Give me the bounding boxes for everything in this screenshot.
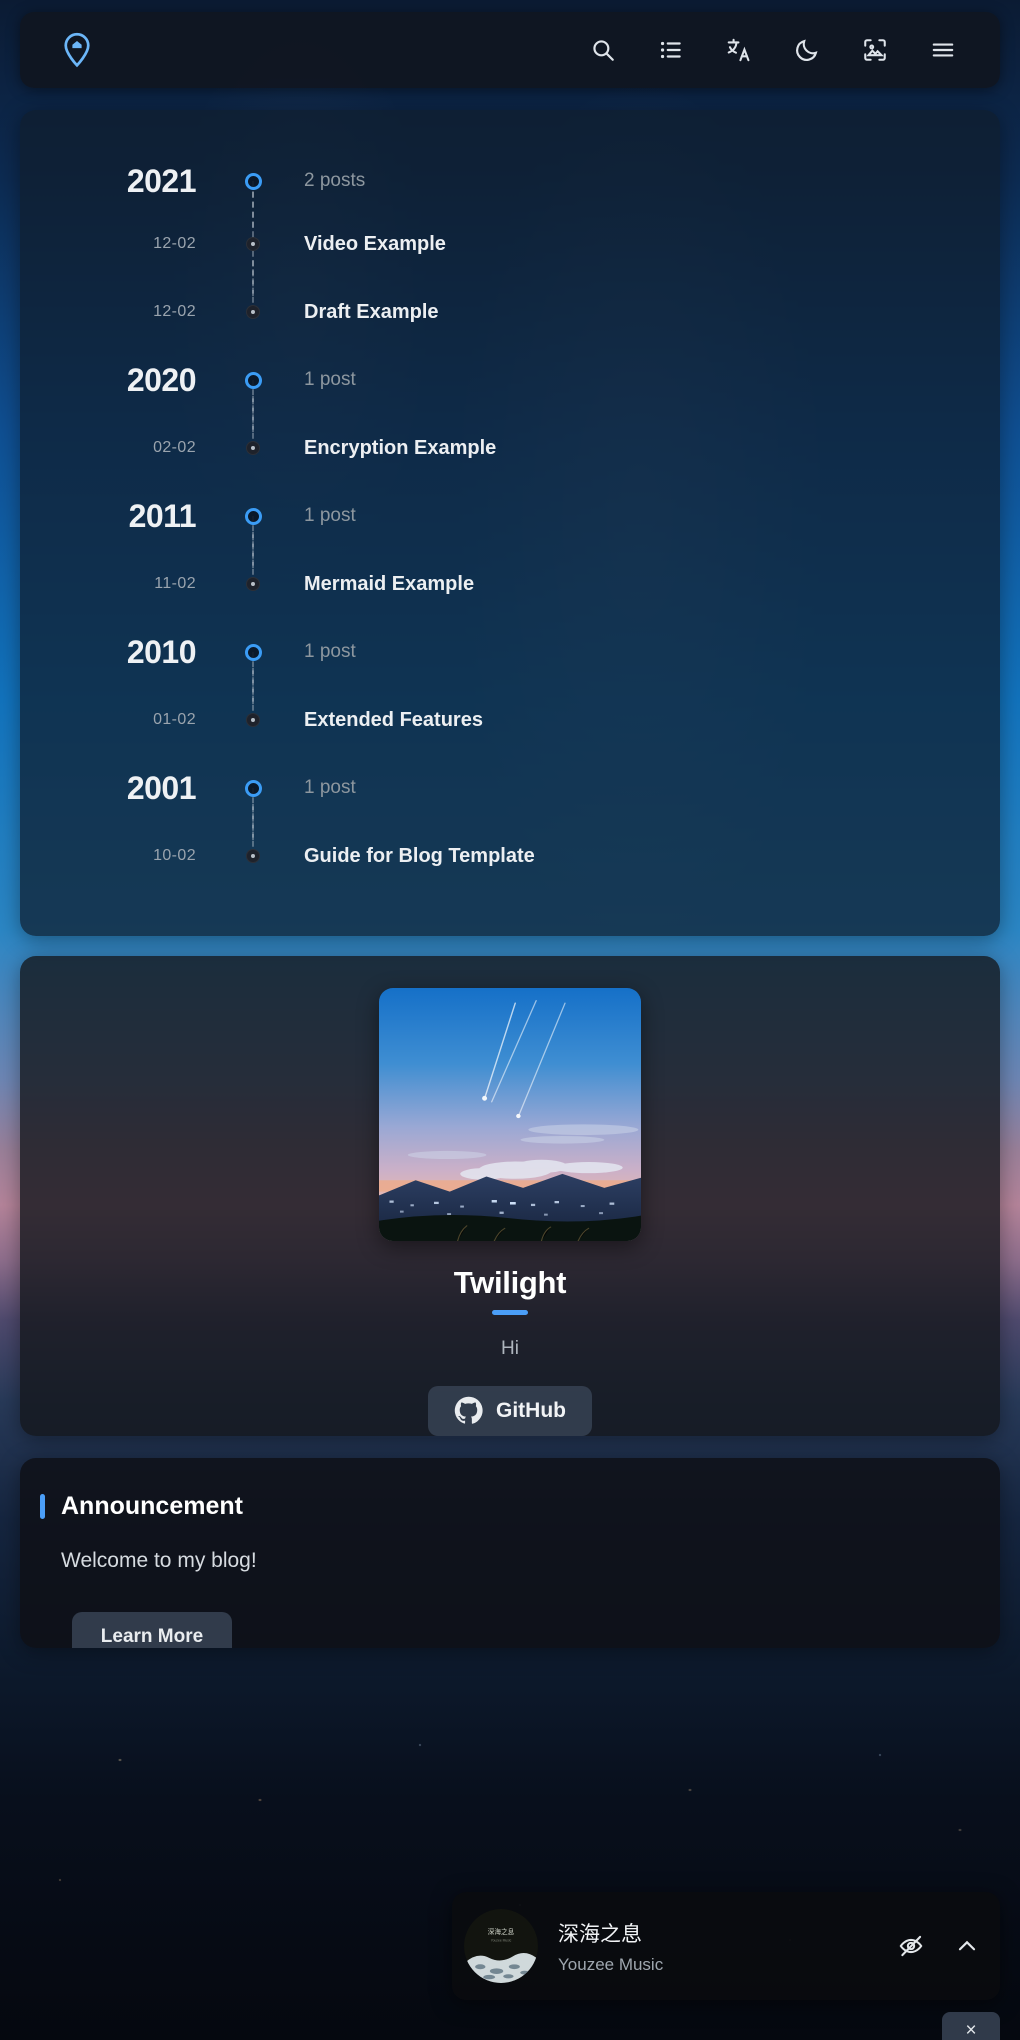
twilight-cityscape-avatar <box>379 988 641 1241</box>
accent-bar-icon <box>40 1494 45 1519</box>
github-icon <box>454 1396 483 1425</box>
timeline-axis <box>230 278 276 346</box>
translate-icon[interactable] <box>726 37 752 63</box>
timeline-post-date: 12-02 <box>153 235 196 252</box>
timeline-post-date: 11-02 <box>154 575 196 592</box>
timeline-post-dot-icon <box>246 441 260 455</box>
announcement-title: Announcement <box>61 1492 243 1521</box>
timeline-year-dot-icon <box>245 372 262 389</box>
timeline-post-date: 02-02 <box>153 439 196 456</box>
github-label: GitHub <box>496 1399 566 1423</box>
timeline-year-dot-icon <box>245 173 262 190</box>
chevron-up-icon[interactable] <box>954 1933 980 1959</box>
timeline-post-dot-icon <box>246 849 260 863</box>
timeline-post-count: 1 post <box>304 505 356 526</box>
timeline-post-dot-icon <box>246 305 260 319</box>
timeline-post-count: 2 posts <box>304 170 365 191</box>
header-icon-group <box>590 37 956 63</box>
profile-bio: Hi <box>501 1338 519 1360</box>
github-link-button[interactable]: GitHub <box>428 1386 592 1436</box>
timeline-year: 2020 <box>127 362 196 398</box>
timeline-post-row[interactable]: 11-02 Mermaid Example <box>20 550 1000 618</box>
timeline-year-row: 2021 2 posts <box>20 152 1000 210</box>
learn-more-button[interactable]: Learn More <box>72 1612 232 1648</box>
timeline-post-title[interactable]: Guide for Blog Template <box>304 845 535 867</box>
search-icon[interactable] <box>590 37 616 63</box>
music-track-info: 深海之息 Youzee Music <box>558 1918 898 1975</box>
toc-list-icon[interactable] <box>658 37 684 63</box>
timeline-post-title[interactable]: Video Example <box>304 233 446 255</box>
timeline-axis <box>230 414 276 482</box>
timeline-post-dot-icon <box>246 237 260 251</box>
archive-timeline: 2021 2 posts 12-02 Video Example 12-02 D… <box>20 110 1000 936</box>
timeline-year-row: 2011 1 post <box>20 482 1000 550</box>
profile-name: Twilight <box>454 1265 566 1301</box>
timeline-post-row[interactable]: 10-02 Guide for Blog Template <box>20 822 1000 890</box>
timeline-post-title[interactable]: Encryption Example <box>304 437 496 459</box>
site-header <box>20 12 1000 88</box>
album-art-deep-sea[interactable]: 深海之息 Youzee Music <box>464 1909 538 1983</box>
timeline-year-row: 2010 1 post <box>20 618 1000 686</box>
timeline-year: 2010 <box>127 634 196 670</box>
svg-text:深海之息: 深海之息 <box>488 1927 515 1936</box>
timeline-post-row[interactable]: 02-02 Encryption Example <box>20 414 1000 482</box>
timeline-year-dot-icon <box>245 644 262 661</box>
moon-icon[interactable] <box>794 37 820 63</box>
announcement-card: Announcement Welcome to my blog! Learn M… <box>20 1458 1000 1648</box>
announcement-text: Welcome to my blog! <box>61 1549 966 1573</box>
timeline-post-count: 1 post <box>304 369 356 390</box>
timeline-post-date: 10-02 <box>153 847 196 864</box>
hamburger-menu-icon[interactable] <box>930 37 956 63</box>
timeline-axis <box>230 822 276 890</box>
music-track-title: 深海之息 <box>558 1918 898 1948</box>
timeline-post-title[interactable]: Mermaid Example <box>304 573 474 595</box>
music-player: 深海之息 Youzee Music 深海之息 Youzee Music <box>452 1892 1000 2000</box>
timeline-post-row[interactable]: 12-02 Video Example <box>20 210 1000 278</box>
timeline-year-dot-icon <box>245 508 262 525</box>
map-pin-home-icon[interactable] <box>60 31 94 69</box>
timeline-year-row: 2020 1 post <box>20 346 1000 414</box>
timeline-post-title[interactable]: Draft Example <box>304 301 439 323</box>
timeline-year: 2011 <box>129 498 196 534</box>
announcement-header: Announcement <box>40 1492 966 1521</box>
timeline-year-dot-icon <box>245 780 262 797</box>
timeline-post-title[interactable]: Extended Features <box>304 709 483 731</box>
timeline-year: 2021 <box>127 163 196 199</box>
timeline-post-dot-icon <box>246 713 260 727</box>
timeline-axis <box>230 686 276 754</box>
timeline-post-date: 01-02 <box>153 711 196 728</box>
timeline-axis <box>230 550 276 618</box>
eye-off-icon[interactable] <box>898 1933 924 1959</box>
timeline-post-count: 1 post <box>304 641 356 662</box>
svg-text:Youzee Music: Youzee Music <box>491 1939 512 1943</box>
timeline-post-date: 12-02 <box>153 303 196 320</box>
timeline-post-row[interactable]: 12-02 Draft Example <box>20 278 1000 346</box>
timeline-post-row[interactable]: 01-02 Extended Features <box>20 686 1000 754</box>
name-divider <box>492 1310 528 1315</box>
close-button[interactable]: × <box>942 2012 1000 2040</box>
timeline-year: 2001 <box>127 770 196 806</box>
timeline-post-count: 1 post <box>304 777 356 798</box>
music-track-artist: Youzee Music <box>558 1955 898 1975</box>
wallpaper-icon[interactable] <box>862 37 888 63</box>
profile-card: Twilight Hi GitHub <box>20 956 1000 1436</box>
music-controls <box>898 1933 980 1959</box>
timeline-year-row: 2001 1 post <box>20 754 1000 822</box>
timeline-post-dot-icon <box>246 577 260 591</box>
